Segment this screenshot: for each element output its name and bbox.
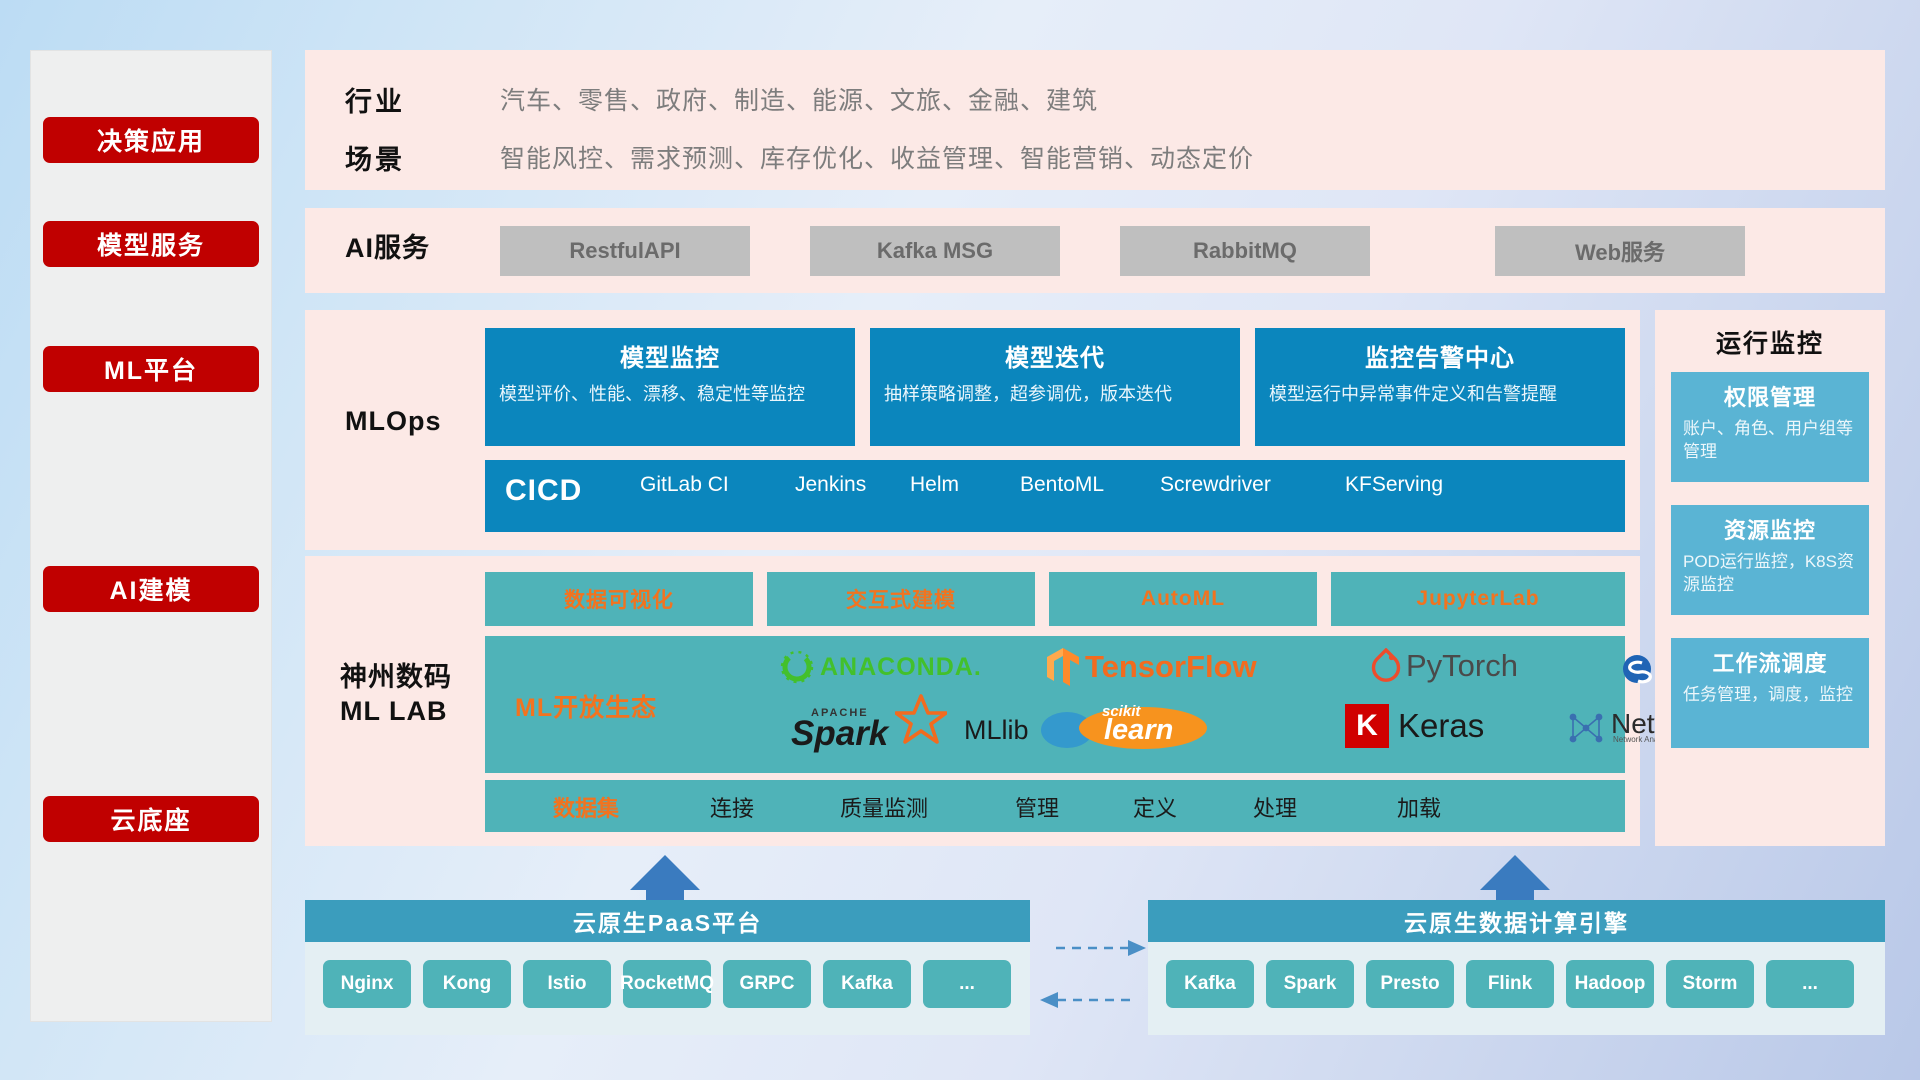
engine-chip-storm[interactable]: Storm [1666,960,1754,1008]
scikit-learn-wordmark: learn [1104,714,1173,747]
anaconda-wordmark: ANACONDA. [820,653,982,682]
dataset-heading: 数据集 [553,791,619,823]
service-rabbitmq[interactable]: RabbitMQ [1120,226,1370,276]
keras-logo: K Keras [1345,704,1484,748]
cicd-heading: CICD [505,474,582,508]
monitor-card-permission[interactable]: 权限管理 账户、角色、用户组等管理 [1671,372,1869,482]
mlops-band: MLOps 模型监控 模型评价、性能、漂移、稳定性等监控 模型迭代 抽样策略调整… [305,310,1640,550]
mlops-card-title: 模型监控 [499,338,841,373]
tensorflow-wordmark: TensorFlow [1085,649,1257,685]
arrow-up-right [1480,855,1550,900]
apache-spark-mllib-logo: APACHE Spark MLlib [785,702,1029,758]
rail-item-decision-app[interactable]: 决策应用 [43,117,259,163]
left-rail: 决策应用 模型服务 ML平台 AI建模 云底座 [30,50,272,1022]
rail-item-ai-modeling[interactable]: AI建模 [43,566,259,612]
engine-chip-kafka[interactable]: Kafka [1166,960,1254,1008]
anaconda-mark-icon [780,650,814,684]
rail-item-ml-platform[interactable]: ML平台 [43,346,259,392]
engine-chip-spark[interactable]: Spark [1266,960,1354,1008]
rail-item-cloud-base[interactable]: 云底座 [43,796,259,842]
tool-data-visualization[interactable]: 数据可视化 [485,572,753,626]
ml-lab-label: 神州数码 ML LAB [340,661,452,729]
rail-item-model-service[interactable]: 模型服务 [43,221,259,267]
service-web[interactable]: Web服务 [1495,226,1745,276]
networkx-graph-icon [1565,708,1607,748]
cicd-item-screwdriver[interactable]: Screwdriver [1160,472,1272,498]
monitor-card-title: 权限管理 [1683,380,1857,412]
dataset-item-define[interactable]: 定义 [1133,791,1177,823]
dataset-item-load[interactable]: 加载 [1397,791,1441,823]
dataset-item-quality[interactable]: 质量监测 [840,791,928,823]
spark-wordmark: Spark [791,714,888,754]
scenario-key: 场景 [345,138,405,177]
cicd-item-jenkins[interactable]: Jenkins [795,472,907,498]
arrow-dashed-left [1040,992,1130,1008]
industry-scenario-band: 行业 汽车、零售、政府、制造、能源、文旅、金融、建筑 场景 智能风控、需求预测、… [305,50,1885,190]
tensorflow-mark-icon [1045,646,1081,688]
ai-services-band: AI服务 RestfulAPI Kafka MSG RabbitMQ Web服务 [305,208,1885,293]
spark-star-icon [895,694,947,744]
ml-lab-label-line2: ML LAB [340,696,448,726]
engine-chip-flink[interactable]: Flink [1466,960,1554,1008]
paas-chip-kong[interactable]: Kong [423,960,511,1008]
arrow-up-left [630,855,700,900]
sas-mark-icon [1620,652,1654,686]
dataset-strip: 数据集 连接 质量监测 管理 定义 处理 加载 [485,780,1625,832]
cicd-strip: CICD GitLab CI Jenkins Helm BentoML Scre… [485,460,1625,532]
cicd-item-helm[interactable]: Helm [910,472,1022,498]
tool-jupyterlab[interactable]: JupyterLab [1331,572,1625,626]
cicd-item-bentoml[interactable]: BentoML [1020,472,1132,498]
dataset-item-manage[interactable]: 管理 [1015,791,1059,823]
cloud-paas-title: 云原生PaaS平台 [305,900,1030,942]
monitor-card-workflow[interactable]: 工作流调度 任务管理，调度，监控 [1671,638,1869,748]
paas-chip-istio[interactable]: Istio [523,960,611,1008]
mlops-card-model-iteration[interactable]: 模型迭代 抽样策略调整，超参调优，版本迭代 [870,328,1240,446]
mlops-card-desc: 模型评价、性能、漂移、稳定性等监控 [499,382,841,406]
paas-chip-kafka[interactable]: Kafka [823,960,911,1008]
run-monitoring-title: 运行监控 [1655,324,1885,360]
scenario-value: 智能风控、需求预测、库存优化、收益管理、智能营销、动态定价 [500,139,1254,175]
paas-chip-grpc[interactable]: GRPC [723,960,811,1008]
engine-chip-presto[interactable]: Presto [1366,960,1454,1008]
tool-automl[interactable]: AutoML [1049,572,1317,626]
engine-chip-more[interactable]: ... [1766,960,1854,1008]
dataset-item-process[interactable]: 处理 [1253,791,1297,823]
service-kafka-msg[interactable]: Kafka MSG [810,226,1060,276]
cicd-item-kfserving[interactable]: KFServing [1345,472,1457,498]
diagram-canvas: 决策应用 模型服务 ML平台 AI建模 云底座 行业 汽车、零售、政府、制造、能… [0,0,1920,1080]
keras-wordmark: Keras [1398,707,1484,745]
mlops-card-title: 监控告警中心 [1269,338,1611,373]
ml-lab-label-line1: 神州数码 [340,662,452,692]
pytorch-flame-icon [1370,648,1402,684]
monitor-card-title: 资源监控 [1683,513,1857,545]
cicd-item-gitlab-ci[interactable]: GitLab CI [640,472,752,498]
monitor-card-desc: 账户、角色、用户组等管理 [1683,418,1857,464]
pytorch-logo: PyTorch [1370,648,1518,684]
industry-key: 行业 [345,80,405,119]
run-monitoring-panel: 运行监控 权限管理 账户、角色、用户组等管理 资源监控 POD运行监控，K8S资… [1655,310,1885,846]
monitor-card-title: 工作流调度 [1683,646,1857,678]
mllib-wordmark: MLlib [964,715,1029,746]
paas-chip-rocketmq[interactable]: RocketMQ [623,960,711,1008]
industry-value: 汽车、零售、政府、制造、能源、文旅、金融、建筑 [500,81,1098,117]
engine-chip-hadoop[interactable]: Hadoop [1566,960,1654,1008]
arrow-dashed-right [1056,940,1146,956]
mlops-card-desc: 抽样策略调整，超参调优，版本迭代 [884,382,1226,406]
ml-ecosystem-label: ML开放生态 [515,688,657,724]
cloud-paas-block: 云原生PaaS平台 Nginx Kong Istio RocketMQ GRPC… [305,900,1030,1035]
mlops-card-title: 模型迭代 [884,338,1226,373]
cloud-data-engine-title: 云原生数据计算引擎 [1148,900,1885,942]
cloud-data-engine-block: 云原生数据计算引擎 Kafka Spark Presto Flink Hadoo… [1148,900,1885,1035]
mlops-card-alert-center[interactable]: 监控告警中心 模型运行中异常事件定义和告警提醒 [1255,328,1625,446]
paas-chip-more[interactable]: ... [923,960,1011,1008]
ml-ecosystem-panel: ML开放生态 ANACONDA. TensorFlow [485,636,1625,773]
mlops-card-desc: 模型运行中异常事件定义和告警提醒 [1269,382,1611,406]
pytorch-wordmark: PyTorch [1406,648,1518,684]
anaconda-logo: ANACONDA. [780,650,982,684]
monitor-card-desc: 任务管理，调度，监控 [1683,684,1857,707]
keras-mark-icon: K [1345,704,1389,748]
service-restfulapi[interactable]: RestfulAPI [500,226,750,276]
tool-interactive-modeling[interactable]: 交互式建模 [767,572,1035,626]
mlops-card-model-monitoring[interactable]: 模型监控 模型评价、性能、漂移、稳定性等监控 [485,328,855,446]
paas-chip-nginx[interactable]: Nginx [323,960,411,1008]
dataset-item-connect[interactable]: 连接 [710,791,754,823]
monitor-card-desc: POD运行监控，K8S资源监控 [1683,551,1857,597]
ai-services-label: AI服务 [345,232,430,266]
mlops-label: MLOps [345,405,442,439]
monitor-card-resource[interactable]: 资源监控 POD运行监控，K8S资源监控 [1671,505,1869,615]
scikit-learn-logo: scikit learn [1040,704,1208,752]
ai-modeling-band: 神州数码 ML LAB 数据可视化 交互式建模 AutoML JupyterLa… [305,556,1640,846]
tensorflow-logo: TensorFlow [1045,646,1257,688]
